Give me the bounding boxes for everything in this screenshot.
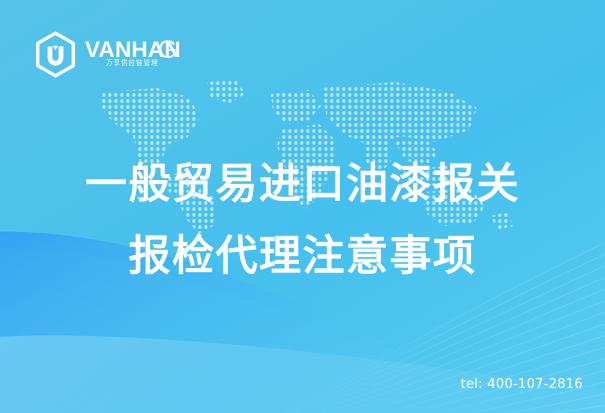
brand-wordmark-tail: G xyxy=(158,38,177,62)
headline-line-2: 报检代理注意事项 xyxy=(0,220,605,292)
brand-wordmark: VANHAN G 万享供应链管理 xyxy=(85,38,181,72)
promo-banner: VANHAN G 万享供应链管理 一般贸易进口油漆报关 报检代理注意事项 tel… xyxy=(0,0,605,413)
brand-logo[interactable]: VANHAN G 万享供应链管理 xyxy=(33,31,181,78)
headline-line-1: 一般贸易进口油漆报关 xyxy=(0,148,605,220)
contact-phone[interactable]: tel: 400-107-2816 xyxy=(461,377,583,393)
hexagon-u-logo-icon xyxy=(33,31,78,78)
light-wave-band xyxy=(0,300,605,413)
headline-block: 一般贸易进口油漆报关 报检代理注意事项 xyxy=(0,148,605,292)
brand-subtitle: 万享供应链管理 xyxy=(106,59,158,67)
